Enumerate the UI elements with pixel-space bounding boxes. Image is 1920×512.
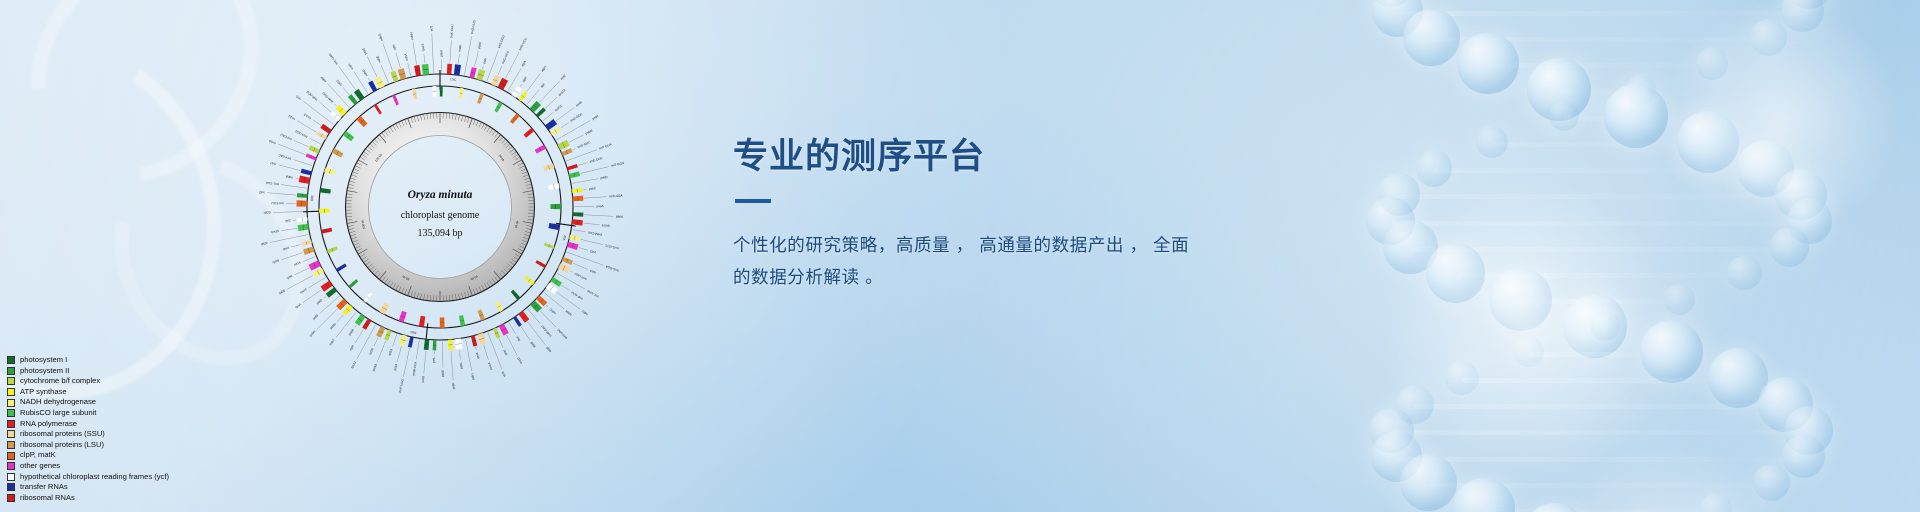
gene-name-label: trnS-UGA: [609, 194, 624, 199]
gene-name-label: ycf2: [258, 190, 264, 194]
hero-banner: 20 kb40 kb60 kb80 kb100 kb120 kb LSCIRAS…: [0, 0, 1920, 512]
gene-name-label: trnV-GAC: [277, 153, 292, 161]
gene-leader-line: [450, 40, 452, 62]
helix-bead: [1782, 435, 1825, 478]
gene-leader-line: [546, 305, 548, 307]
gene-leader-line: [451, 351, 453, 380]
gene-leader-line: [584, 215, 613, 217]
gene-leader-line: [578, 163, 587, 166]
legend-item: clpP, matK: [7, 450, 257, 461]
gene-name-label: petD: [316, 298, 324, 306]
gene-leader-line: [561, 285, 569, 290]
gene-feature-boxes: [302, 69, 578, 345]
legend-item: RubisCO large subunit: [7, 408, 257, 419]
gene-name-label: psbA: [439, 49, 443, 57]
gene-name-label: psaA: [596, 204, 604, 208]
gene-name-label: trnD-GUC: [577, 140, 592, 149]
gene-leader-line: [273, 211, 305, 212]
gene-name-label: petA: [475, 351, 481, 359]
gene-name-label: rpoB: [575, 100, 583, 107]
gene-name-label: rpl22: [261, 241, 269, 246]
gene-leader-line: [466, 339, 472, 371]
gene-leader-line: [476, 347, 477, 350]
gene-name-label: trnG-UCC: [501, 50, 511, 65]
gene-leader-line: [278, 144, 305, 155]
legend-item-label: ATP synthase: [20, 387, 67, 398]
gene-leader-line: [270, 234, 308, 242]
legend-color-swatch: [7, 430, 15, 438]
gene-name-label: ndhH: [409, 32, 414, 40]
gene-name-label: rps7: [269, 161, 276, 166]
helix-bead: [1416, 150, 1453, 187]
gene-name-label: rps11: [299, 287, 308, 294]
gene-name-label: rrn16: [268, 139, 276, 145]
helix-glow: [1380, 180, 1680, 480]
gene-name-label: rpoC1: [554, 104, 563, 113]
legend-color-swatch: [7, 494, 15, 502]
gene-name-label: trnI-CAU: [271, 201, 283, 205]
gene-leader-line: [424, 54, 425, 63]
legend-item: NADH dehydrogenase: [7, 397, 257, 408]
gene-leader-line: [569, 135, 583, 142]
gene-name-label: atpH: [540, 65, 547, 73]
gene-name-label: trnN-GUU: [321, 91, 334, 103]
gene-name-label: trnV-UAC: [556, 327, 568, 340]
gene-name-label: ndhA: [403, 52, 409, 61]
gene-name-label: psbI: [482, 57, 488, 64]
gene-leader-line: [281, 185, 307, 189]
gene-name-label: psbB: [348, 328, 355, 336]
helix-bead: [1549, 101, 1579, 131]
legend-color-swatch: [7, 483, 15, 491]
gene-leader-line: [403, 348, 409, 376]
gene-name-label: atpB: [530, 341, 537, 349]
gene-leader-line: [509, 323, 516, 334]
legend-item: photosystem I: [7, 355, 257, 366]
legend-item: other genes: [7, 461, 257, 472]
legend-item: ribosomal proteins (LSU): [7, 440, 257, 451]
gene-name-label: psbK: [477, 40, 483, 49]
legend-item-label: photosystem II: [20, 366, 69, 377]
gene-name-label: trnS-GGA: [604, 264, 619, 273]
gene-name-label: rpl20: [368, 347, 375, 355]
gene-leader-line: [294, 140, 309, 147]
gene-name-label: psbL: [459, 362, 464, 369]
gene-name-label: ycf3: [589, 249, 596, 255]
genome-map-svg: 20 kb40 kb60 kb80 kb100 kb120 kb LSCIRAS…: [243, 10, 637, 404]
legend-color-swatch: [7, 473, 15, 481]
legend-item: ATP synthase: [7, 387, 257, 398]
gene-name-label: atpF: [521, 76, 528, 83]
gene-name-label: trnP-UGG: [398, 378, 405, 393]
helix-bead: [1403, 9, 1460, 66]
genome-region-label: IRB: [310, 195, 314, 200]
gene-name-label: rrn23: [287, 114, 295, 121]
gene-name-label: rpl23: [264, 210, 271, 214]
title-divider: [735, 199, 771, 203]
genome-region-label: IRA: [562, 235, 567, 242]
gene-name-label: rps12: [350, 360, 357, 369]
legend-item: ribosomal RNAs: [7, 493, 257, 504]
legend-item-label: ribosomal proteins (SSU): [20, 429, 105, 440]
gene-leader-line: [545, 97, 557, 108]
legend-item-label: NADH dehydrogenase: [20, 397, 96, 408]
gene-name-label: atpE: [545, 346, 552, 353]
gene-leader-line: [557, 120, 591, 139]
gene-leader-line: [295, 178, 298, 179]
gene-name-label: rpl36: [278, 288, 286, 295]
gene-name-label: psbJ: [470, 373, 475, 381]
gene-leader-line: [355, 325, 357, 327]
gene-leader-line: [570, 271, 573, 272]
gene-name-label: trnR-ACG: [305, 89, 318, 101]
gene-name-label: petB: [312, 313, 319, 320]
legend-color-swatch: [7, 388, 15, 396]
helix-bead: [1727, 256, 1762, 291]
gene-leader-line: [584, 197, 606, 198]
gene-name-label: ndhF: [319, 75, 327, 83]
legend-item: RNA polymerase: [7, 419, 257, 430]
gene-name-label: psbE: [441, 370, 445, 377]
gene-leader-line: [397, 346, 401, 361]
gene-name-label: atpI: [539, 82, 545, 89]
gene-name-label: rpl2: [285, 218, 291, 222]
gene-leader-line: [416, 340, 419, 359]
hero-subtext-line-2: 的数据分析解读 。: [733, 261, 1293, 293]
gene-name-label: rpl16: [272, 258, 280, 264]
gene-leader-line: [336, 312, 356, 337]
gene-name-label: trnL-UAA: [586, 288, 600, 298]
gene-leader-line: [324, 296, 326, 298]
gene-name-label: trnC-GCA: [570, 111, 584, 122]
gene-name-label: trnT-UGU: [574, 272, 588, 281]
gene-leader-line: [459, 350, 460, 359]
legend-color-swatch: [7, 399, 15, 407]
gene-leader-line: [498, 66, 502, 75]
gene-name-label: trnG-GCC: [604, 243, 619, 250]
gene-leader-line: [383, 43, 393, 70]
genome-length: 135,094 bp: [418, 228, 463, 239]
gene-name-label: psbF: [451, 382, 456, 389]
scale-ring-inner-outline: [369, 136, 512, 279]
legend-color-swatch: [7, 356, 15, 364]
gene-name-label: trnfM-CAU: [587, 230, 602, 236]
gene-leader-line: [357, 325, 376, 359]
gene-leader-line: [335, 104, 337, 106]
gene-leader-line: [573, 263, 588, 269]
gene-name-label: rps3: [283, 246, 290, 252]
gene-name-label: ycf1: [429, 25, 433, 31]
helix-bead: [1400, 454, 1457, 511]
hero-subtext: 个性化的研究策略，高质量 ， 高通量的数据产出 ， 全面 的数据分析解读 。: [733, 229, 1293, 293]
gene-leader-line: [297, 121, 316, 133]
gene-name-label: cemA: [487, 361, 493, 371]
gene-leader-line: [527, 74, 541, 92]
gene-name-label: trnL-CAA: [265, 181, 279, 187]
gene-leader-line: [293, 160, 312, 166]
gene-name-label: trnK-UUU: [449, 24, 454, 38]
gene-leader-line: [319, 102, 331, 113]
gene-leader-line: [572, 179, 598, 184]
gene-name-label: trnM-CAU: [540, 324, 552, 337]
gene-name-label: ndhE: [375, 55, 381, 63]
gene-leader-line: [396, 53, 400, 68]
gene-leader-line: [281, 228, 297, 230]
gene-leader-line: [310, 138, 321, 144]
genome-map-legend: photosystem Iphotosystem IIcytochrome b/…: [7, 355, 257, 503]
gene-name-label: trnS-GCU: [497, 35, 505, 49]
gene-name-label: rrn4.5: [303, 112, 312, 120]
helix-bead: [1476, 126, 1508, 158]
legend-item-label: hypothetical chloroplast reading frames …: [20, 472, 169, 483]
gene-leader-line: [303, 257, 315, 262]
gene-leader-line: [465, 36, 472, 74]
legend-color-swatch: [7, 377, 15, 385]
gene-name-label: psbH: [308, 329, 316, 337]
gene-name-label: trnR-UCU: [518, 37, 528, 51]
gene-name-label: ndhJ: [581, 309, 589, 316]
gene-name-label: psbM: [585, 128, 594, 135]
gene-leader-line: [413, 42, 417, 64]
chloroplast-genome-map: 20 kb40 kb60 kb80 kb100 kb120 kb LSCIRAS…: [243, 10, 637, 404]
legend-item-label: RNA polymerase: [20, 419, 77, 430]
legend-item-label: photosystem I: [20, 355, 67, 366]
genome-organism-name: Oryza minuta: [408, 189, 473, 201]
gene-name-label: psaI: [502, 349, 508, 356]
gene-name-label: psaJ: [393, 363, 399, 371]
gene-name-label: matK: [457, 43, 462, 52]
gene-name-label: rps2: [560, 73, 567, 80]
gene-name-label: rps19: [271, 229, 280, 234]
gene-name-label: rrn5: [295, 94, 302, 101]
gene-name-label: atpA: [520, 59, 527, 67]
gene-name-label: psbN: [329, 322, 337, 330]
gene-leader-line: [458, 54, 459, 63]
gene-leader-line: [432, 34, 434, 73]
gene-leader-line: [521, 327, 530, 340]
gene-name-label: trnF-GAA: [570, 290, 584, 301]
legend-item-label: cytochrome b/f complex: [20, 376, 100, 387]
gene-name-label: rps4: [589, 269, 596, 275]
gene-leader-line: [544, 292, 564, 309]
genome-region-label: SSC: [409, 330, 417, 335]
hero-subtext-line-1: 个性化的研究策略，高质量 ， 高通量的数据产出 ， 全面: [733, 229, 1293, 261]
gene-leader-line: [355, 330, 363, 344]
legend-item-label: clpP, matK: [20, 450, 56, 461]
gene-leader-line: [291, 245, 300, 247]
gene-name-label: ndhC: [548, 307, 557, 315]
gene-leader-line: [408, 63, 411, 76]
gene-leader-line: [579, 248, 588, 251]
gene-leader-line: [520, 84, 522, 86]
gene-name-label: trnQ-UUG: [470, 19, 477, 34]
legend-item: cytochrome b/f complex: [7, 376, 257, 387]
gene-leader-line: [543, 112, 553, 120]
gene-name-label: rps15: [421, 43, 426, 51]
gene-name-label: psbD: [600, 175, 609, 180]
gene-name-label: rpl32: [335, 79, 343, 87]
gene-name-label: psbC: [589, 186, 597, 191]
gene-name-label: psaB: [616, 215, 623, 219]
gene-name-label: ndhD: [361, 68, 368, 77]
gene-leader-line: [313, 120, 321, 125]
gene-leader-line: [377, 341, 385, 362]
dna-helix-illustration: [1240, 0, 1920, 512]
gene-name-label: petL: [432, 357, 436, 363]
gene-name-label: trnY-GUA: [598, 142, 613, 151]
gene-name-label: rps14: [601, 223, 609, 228]
scale-ring: [357, 124, 523, 290]
gene-leader-line: [295, 268, 310, 275]
gene-leader-line: [393, 334, 397, 346]
gene-leader-line: [581, 167, 609, 174]
gene-name-label: psbT: [328, 338, 335, 346]
gene-name-label: ndhI: [392, 44, 398, 51]
gene-name-label: trnI-GAU: [280, 133, 293, 142]
gene-leader-line: [483, 66, 484, 69]
gene-name-label: trnW-CCA: [412, 360, 418, 375]
legend-item: photosystem II: [7, 366, 257, 377]
gene-leader-line: [573, 149, 576, 150]
legend-color-swatch: [7, 409, 15, 417]
helix-bead: [1457, 33, 1518, 94]
legend-item: transfer RNAs: [7, 482, 257, 493]
gene-leader-line: [282, 253, 303, 260]
gene-name-label: ndhK: [564, 308, 573, 316]
legend-color-swatch: [7, 367, 15, 375]
gene-leader-line: [567, 252, 604, 265]
gene-leader-line: [581, 239, 603, 244]
gene-name-label: ndhB: [285, 174, 293, 179]
legend-item-label: RubisCO large subunit: [20, 408, 96, 419]
legend-item: hypothetical chloroplast reading frames …: [7, 472, 257, 483]
gene-leader-line: [267, 193, 296, 195]
gene-name-label: trnT-GGU: [611, 161, 625, 168]
gene-name-label: rpoC2: [557, 88, 566, 97]
gene-name-label: trnA-UGC: [294, 129, 309, 139]
gene-leader-line: [484, 345, 489, 360]
gene-name-label: petN: [591, 114, 599, 121]
gene-name-label: rbcL: [515, 335, 522, 342]
helix-bead: [1604, 84, 1668, 148]
gene-leader-line: [561, 123, 569, 128]
gene-leader-line: [573, 230, 586, 232]
gene-leader-line: [381, 65, 388, 83]
gene-leader-line: [584, 223, 600, 225]
legend-item-label: ribosomal RNAs: [20, 493, 75, 504]
gene-name-label: rpl14: [293, 260, 301, 266]
legend-item-label: other genes: [20, 461, 60, 472]
gene-leader-line: [303, 101, 334, 125]
page-title: 专业的测序平台: [733, 138, 1293, 177]
legend-item-label: ribosomal proteins (LSU): [20, 440, 104, 451]
gene-leader-line: [368, 78, 369, 81]
legend-color-swatch: [7, 420, 15, 428]
gene-name-label: petG: [421, 375, 426, 383]
gene-leader-line: [320, 296, 339, 313]
gene-name-label: ndhG: [377, 33, 383, 42]
gene-leader-line: [337, 315, 343, 322]
gene-leader-line: [343, 87, 349, 94]
legend-color-swatch: [7, 462, 15, 470]
gene-leader-line: [374, 338, 378, 347]
legend-item: ribosomal proteins (SSU): [7, 429, 257, 440]
gene-name-label: ycf4: [501, 371, 507, 378]
gene-leader-line: [499, 339, 503, 348]
legend-color-swatch: [7, 452, 15, 460]
genome-description: chloroplast genome: [401, 210, 480, 221]
gene-name-label: rps18: [371, 363, 378, 372]
gene-leader-line: [424, 351, 426, 373]
gene-name-label: psaC: [361, 46, 368, 55]
legend-color-swatch: [7, 441, 15, 449]
gene-leader-line: [278, 165, 300, 171]
gene-name-label: clpP: [349, 344, 356, 351]
hero-text-block: 专业的测序平台 个性化的研究策略，高质量 ， 高通量的数据产出 ， 全面 的数据…: [733, 138, 1293, 293]
gene-leader-line: [474, 51, 478, 67]
gene-name-label: rpl33: [387, 348, 393, 356]
gene-name-label: ccsA: [347, 62, 354, 71]
gene-name-label: trnE-UUC: [589, 156, 604, 164]
gene-name-label: accD: [516, 356, 523, 365]
helix-glow: [1660, 0, 1900, 240]
legend-item-label: transfer RNAs: [20, 482, 68, 493]
gene-name-label: trnL-UAG: [327, 52, 338, 65]
genome-region-label: LSC: [450, 77, 457, 82]
gene-name-labels: psbAtrnK-UUUmatKtrnQ-UUGpsbKpsbItrnS-GCU…: [258, 19, 624, 393]
gene-name-label: rpoA: [294, 302, 302, 310]
gene-name-label: rps8: [286, 274, 293, 280]
